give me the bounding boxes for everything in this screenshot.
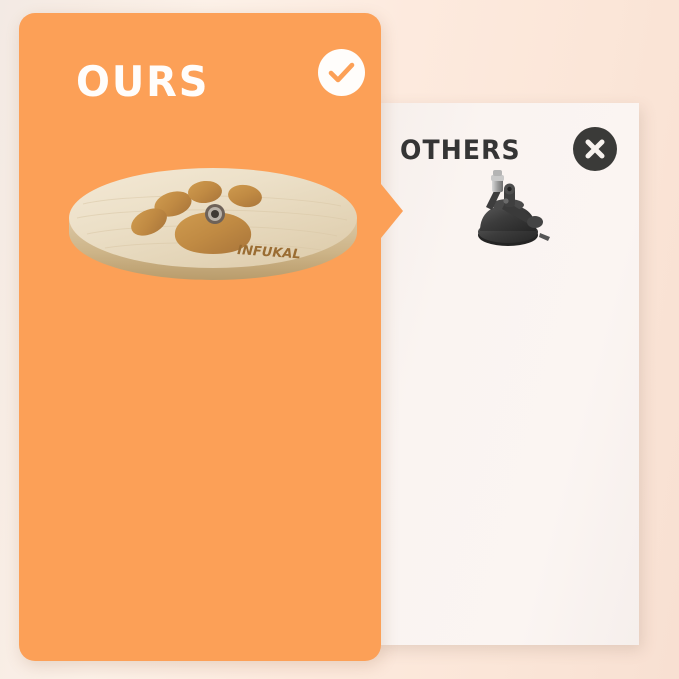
- ours-title: OURS: [76, 57, 209, 106]
- ours-panel: OURS: [19, 13, 381, 661]
- others-title: OTHERS: [400, 135, 521, 166]
- check-circle-icon: [318, 49, 365, 96]
- wooden-paw-board-image: INFUKAL: [65, 156, 361, 286]
- panel-connector-arrow: [381, 184, 403, 238]
- others-panel: OTHERS: [374, 103, 639, 645]
- x-circle-icon: [573, 127, 617, 171]
- suction-cup-mount-image: [462, 165, 554, 257]
